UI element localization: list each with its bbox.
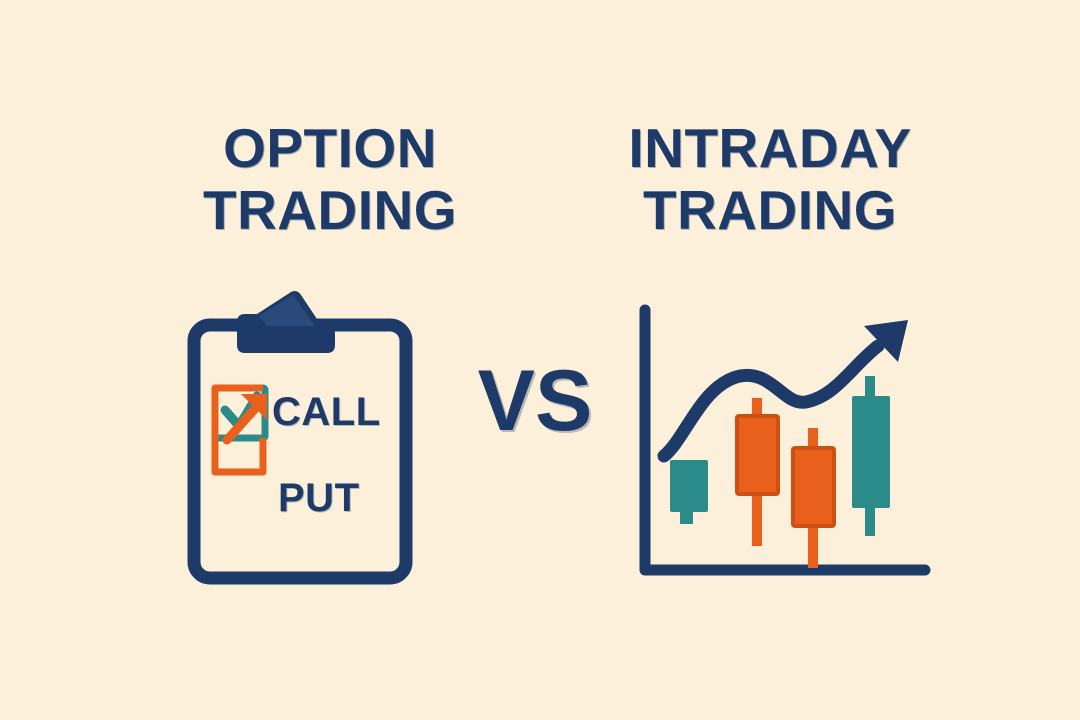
candlestick-3 [793,428,834,568]
infographic-canvas: OPTION TRADING INTRADAY TRADING VS CALL … [0,0,1080,720]
page-title-option-trading: OPTION TRADING [120,118,540,241]
candlestick-1-body [670,460,708,512]
versus-label: VS [460,358,610,444]
title-left-line2: TRADING [120,180,540,242]
title-right-line2: TRADING [560,180,980,242]
clipboard-illustration [175,278,425,590]
title-left-line1: OPTION [120,118,540,180]
option-label-call: CALL [272,392,381,432]
candlestick-2-body [737,416,778,494]
page-title-intraday-trading: INTRADAY TRADING [560,118,980,241]
candlestick-4 [852,376,890,536]
candlestick-4-body [852,396,890,508]
clipboard-board [194,325,406,578]
candlestick-3-body [793,448,834,526]
checkbox-put[interactable] [215,388,267,472]
candlestick-chart-illustration [620,288,950,592]
candlestick-2 [737,398,778,546]
option-label-put: PUT [278,478,360,518]
title-right-line1: INTRADAY [560,118,980,180]
candlestick-1 [670,460,708,524]
